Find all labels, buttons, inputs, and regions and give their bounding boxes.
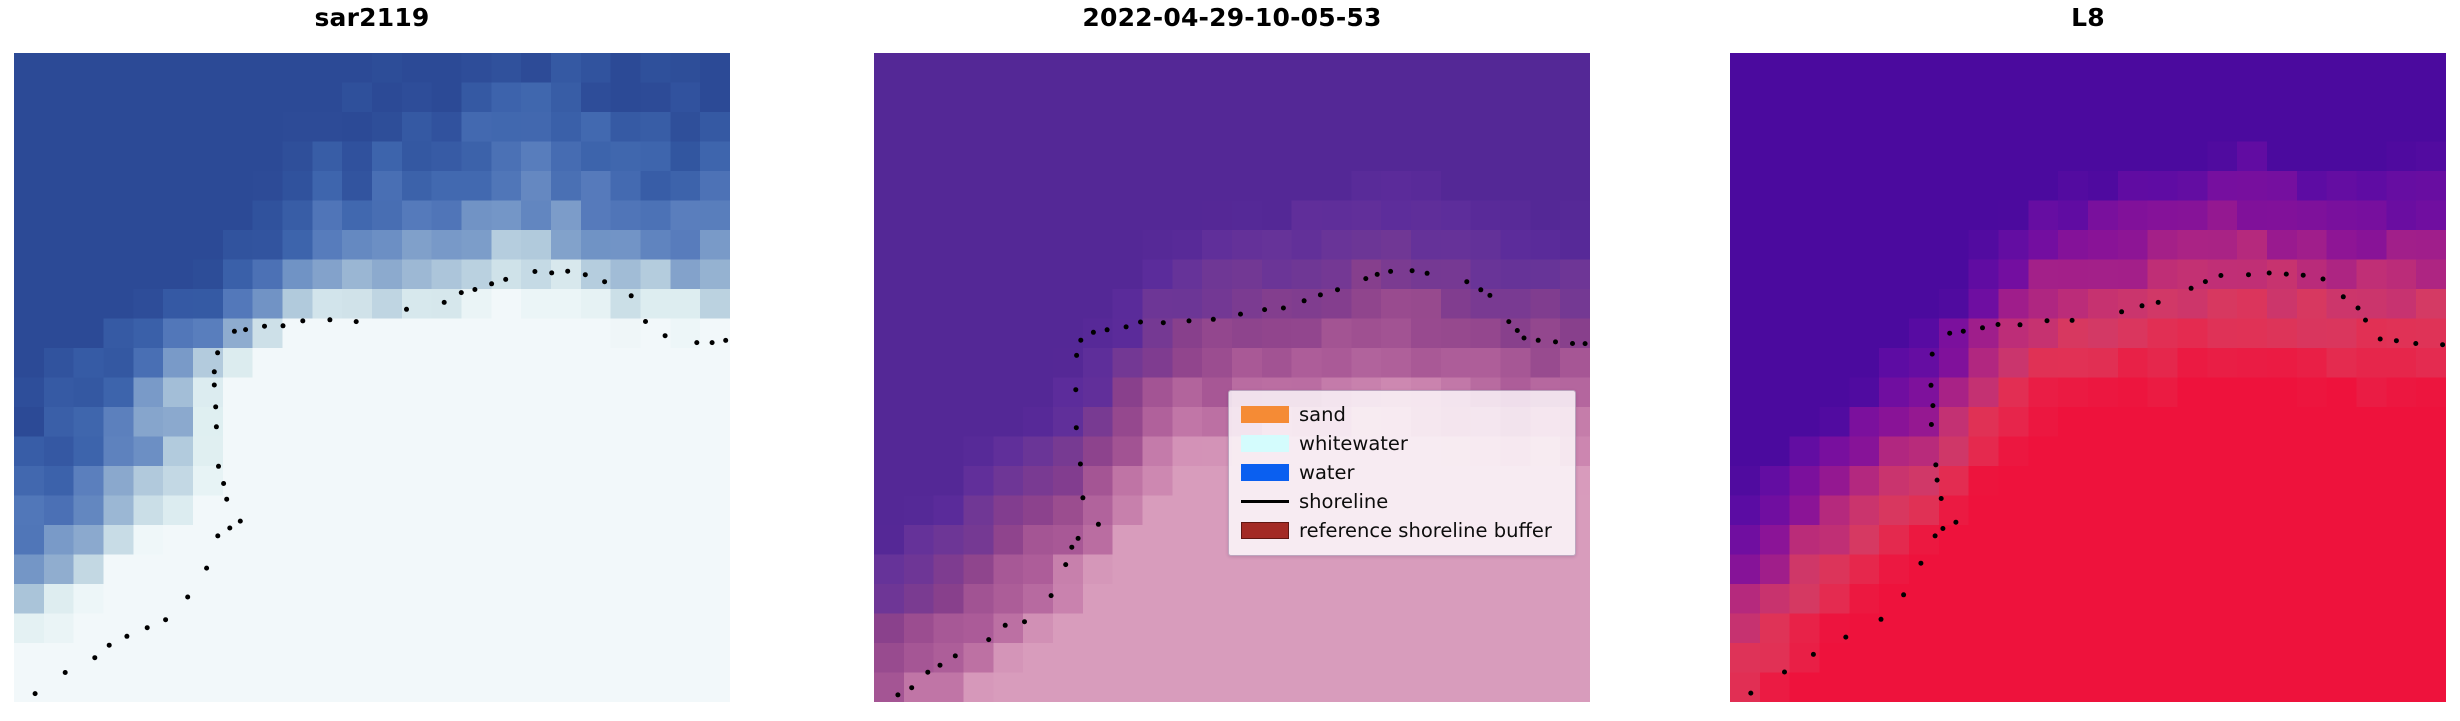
raster-image-sar xyxy=(14,53,730,702)
legend-label: sand xyxy=(1297,405,1346,425)
legend-color-swatch-water xyxy=(1241,464,1289,481)
panel-sar2119[interactable] xyxy=(14,53,730,702)
panel-l8[interactable] xyxy=(1730,53,2446,702)
legend-color-swatch-sand xyxy=(1241,406,1289,423)
figure-canvas: sar2119 2022-04-29-10-05-53 L8 sandwhite… xyxy=(0,0,2460,721)
panel-2022-04-29-10-05-53[interactable] xyxy=(874,53,1590,702)
legend-color-swatch-whitewater xyxy=(1241,435,1289,452)
legend-line-icon-shoreline xyxy=(1241,500,1289,503)
legend-label: water xyxy=(1297,463,1355,483)
legend-swatch-wrap xyxy=(1241,429,1297,458)
legend-swatch-wrap xyxy=(1241,458,1297,487)
legend-label: shoreline xyxy=(1297,492,1388,512)
legend-item-sand[interactable]: sand xyxy=(1241,400,1563,429)
panel-title-sar: sar2119 xyxy=(14,5,730,30)
legend-item-reference-shoreline-buffer[interactable]: reference shoreline buffer xyxy=(1241,516,1563,545)
legend-color-swatch-reference-shoreline-buffer xyxy=(1241,522,1289,539)
panel-title-timestamp: 2022-04-29-10-05-53 xyxy=(874,5,1590,30)
legend-swatch-wrap xyxy=(1241,516,1297,545)
legend-swatch-wrap xyxy=(1241,400,1297,429)
legend-label: whitewater xyxy=(1297,434,1408,454)
raster-image-l8 xyxy=(1730,53,2446,702)
raster-image-timestamp xyxy=(874,53,1590,702)
panel-title-l8: L8 xyxy=(1730,5,2446,30)
legend-item-water[interactable]: water xyxy=(1241,458,1563,487)
legend-item-shoreline[interactable]: shoreline xyxy=(1241,487,1563,516)
legend-box[interactable]: sandwhitewaterwatershorelinereference sh… xyxy=(1228,390,1576,556)
legend-item-whitewater[interactable]: whitewater xyxy=(1241,429,1563,458)
legend-swatch-wrap xyxy=(1241,487,1297,516)
legend-label: reference shoreline buffer xyxy=(1297,521,1552,541)
